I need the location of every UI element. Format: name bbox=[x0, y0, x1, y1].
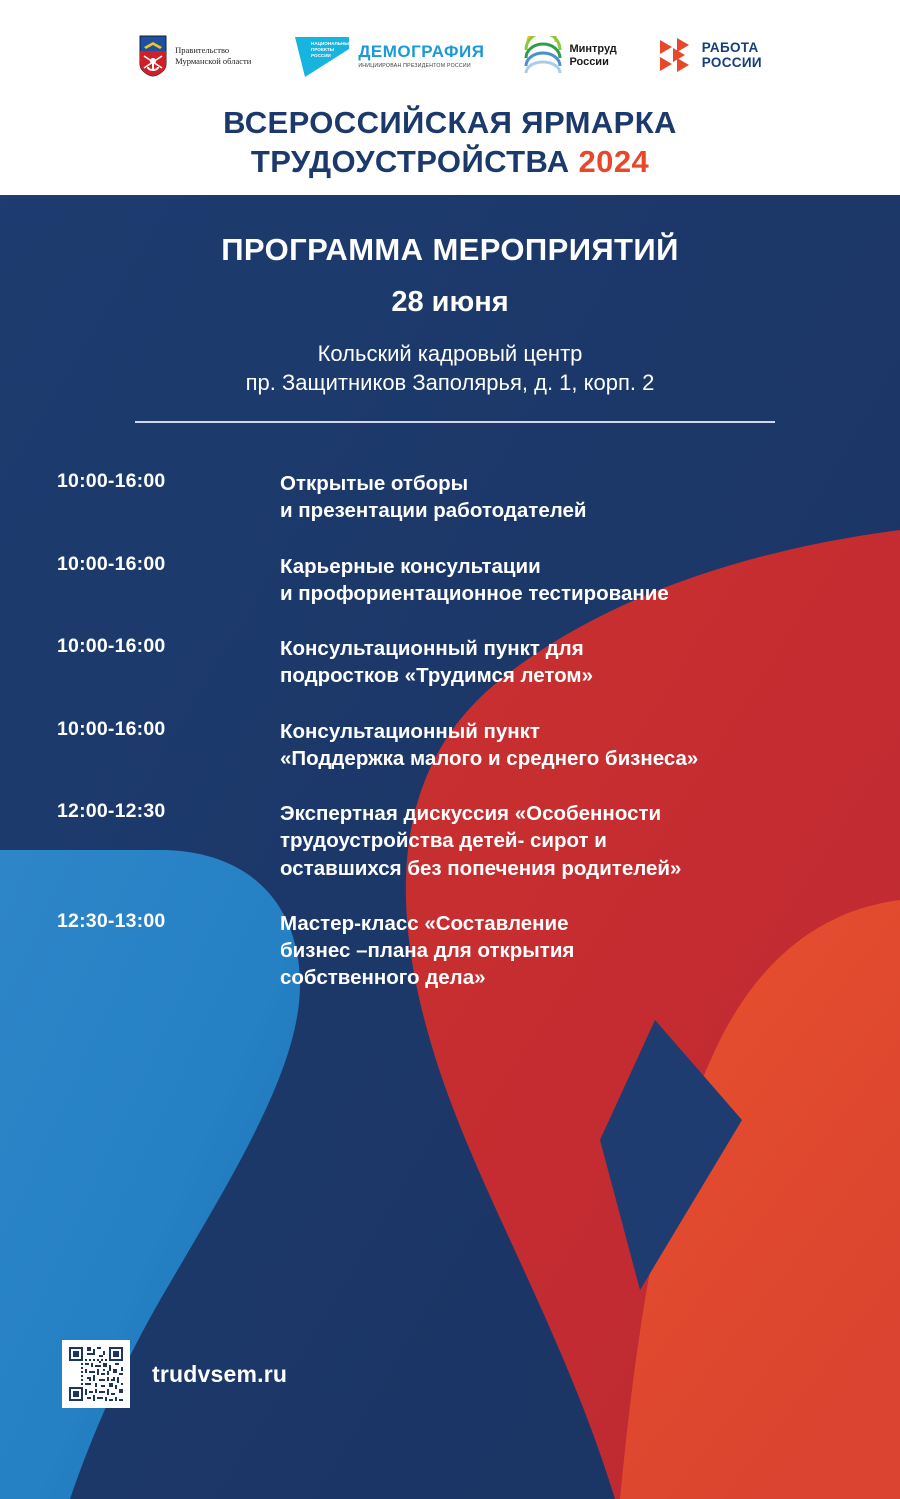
mintrud-text: Минтруд России bbox=[569, 43, 616, 69]
fair-year: 2024 bbox=[579, 144, 650, 179]
schedule-description: Карьерные консультации и профориентацион… bbox=[280, 553, 900, 608]
fair-title-line2-wrap: ТРУДОУСТРОЙСТВА 2024 bbox=[0, 142, 900, 181]
poster-root: Правительство Мурманской области НАЦИОНА… bbox=[0, 0, 900, 1499]
schedule-description: Открытые отборы и презентации работодате… bbox=[280, 470, 900, 525]
svg-text:НАЦИОНАЛЬНЫЕ: НАЦИОНАЛЬНЫЕ bbox=[311, 41, 351, 46]
mintrud-line2: России bbox=[569, 56, 616, 69]
demografia-text: ДЕМОГРАФИЯ ИНИЦИИРОВАН ПРЕЗИДЕНТОМ РОССИ… bbox=[358, 43, 484, 69]
murmansk-coat-of-arms-icon bbox=[138, 34, 168, 78]
program-title: ПРОГРАММА МЕРОПРИЯТИЙ bbox=[0, 232, 900, 268]
venue-line1: Кольский кадровый центр bbox=[0, 339, 900, 368]
site-url-label[interactable]: trudvsem.ru bbox=[152, 1361, 287, 1388]
qr-code-box[interactable] bbox=[62, 1340, 130, 1408]
program-date: 28 июня bbox=[0, 286, 900, 319]
venue-line2: пр. Защитников Заполярья, д. 1, корп. 2 bbox=[0, 368, 900, 397]
murmansk-line1: Правительство bbox=[175, 45, 251, 56]
schedule-time: 10:00-16:00 bbox=[0, 718, 280, 741]
qr-code-icon[interactable] bbox=[67, 1345, 125, 1403]
demografia-subtitle: ИНИЦИИРОВАН ПРЕЗИДЕНТОМ РОССИИ bbox=[358, 63, 484, 69]
schedule-row: 10:00-16:00 Карьерные консультации и про… bbox=[0, 553, 900, 608]
mintrud-line1: Минтруд bbox=[569, 43, 616, 56]
header-band: Правительство Мурманской области НАЦИОНА… bbox=[0, 0, 900, 195]
logo-rabota-rossii: РАБОТА РОССИИ bbox=[657, 27, 762, 85]
fair-title: ВСЕРОССИЙСКАЯ ЯРМАРКА ТРУДОУСТРОЙСТВА 20… bbox=[0, 103, 900, 181]
heading-divider bbox=[135, 421, 775, 423]
venue-block: Кольский кадровый центр пр. Защитников З… bbox=[0, 339, 900, 397]
schedule-time: 12:30-13:00 bbox=[0, 910, 280, 933]
logo-mintrud-rossii: Минтруд России bbox=[524, 27, 616, 85]
natsproekty-wedge-icon: НАЦИОНАЛЬНЫЕ ПРОЕКТЫ РОССИИ bbox=[291, 33, 351, 79]
schedule-time: 10:00-16:00 bbox=[0, 553, 280, 576]
fair-title-line2: ТРУДОУСТРОЙСТВА bbox=[251, 144, 579, 179]
murmansk-line2: Мурманской области bbox=[175, 56, 251, 67]
demografia-title: ДЕМОГРАФИЯ bbox=[358, 43, 484, 60]
schedule-row: 10:00-16:00 Консультационный пункт «Подд… bbox=[0, 718, 900, 773]
schedule-time: 10:00-16:00 bbox=[0, 470, 280, 493]
schedule-row: 10:00-16:00 Консультационный пункт для п… bbox=[0, 635, 900, 690]
schedule-time: 12:00-12:30 bbox=[0, 800, 280, 823]
logo-murmansk-government: Правительство Мурманской области bbox=[138, 27, 251, 85]
murmansk-logo-text: Правительство Мурманской области bbox=[175, 45, 251, 68]
schedule-description: Мастер-класс «Составление бизнес –плана … bbox=[280, 910, 900, 992]
schedule-description: Консультационный пункт «Поддержка малого… bbox=[280, 718, 900, 773]
partner-logos-row: Правительство Мурманской области НАЦИОНА… bbox=[0, 26, 900, 86]
schedule-description: Консультационный пункт для подростков «Т… bbox=[280, 635, 900, 690]
schedule-row: 12:00-12:30 Экспертная дискуссия «Особен… bbox=[0, 800, 900, 882]
footer: trudvsem.ru bbox=[62, 1340, 287, 1408]
schedule-row: 12:30-13:00 Мастер-класс «Составление би… bbox=[0, 910, 900, 992]
program-heading: ПРОГРАММА МЕРОПРИЯТИЙ 28 июня Кольский к… bbox=[0, 232, 900, 397]
svg-text:ПРОЕКТЫ: ПРОЕКТЫ bbox=[311, 47, 335, 52]
rabota-rossii-triangles-icon bbox=[657, 37, 695, 75]
rabota-line2: РОССИИ bbox=[702, 56, 762, 71]
fair-title-line1: ВСЕРОССИЙСКАЯ ЯРМАРКА bbox=[0, 103, 900, 142]
schedule-description: Экспертная дискуссия «Особенности трудоу… bbox=[280, 800, 900, 882]
schedule-row: 10:00-16:00 Открытые отборы и презентаци… bbox=[0, 470, 900, 525]
logo-demografia: НАЦИОНАЛЬНЫЕ ПРОЕКТЫ РОССИИ ДЕМОГРАФИЯ И… bbox=[291, 27, 484, 85]
rabota-line1: РАБОТА bbox=[702, 41, 762, 56]
schedule-list: 10:00-16:00 Открытые отборы и презентаци… bbox=[0, 470, 900, 1020]
svg-text:РОССИИ: РОССИИ bbox=[311, 53, 331, 58]
mintrud-emblem-icon bbox=[524, 36, 562, 76]
schedule-time: 10:00-16:00 bbox=[0, 635, 280, 658]
rabota-rossii-text: РАБОТА РОССИИ bbox=[702, 41, 762, 71]
